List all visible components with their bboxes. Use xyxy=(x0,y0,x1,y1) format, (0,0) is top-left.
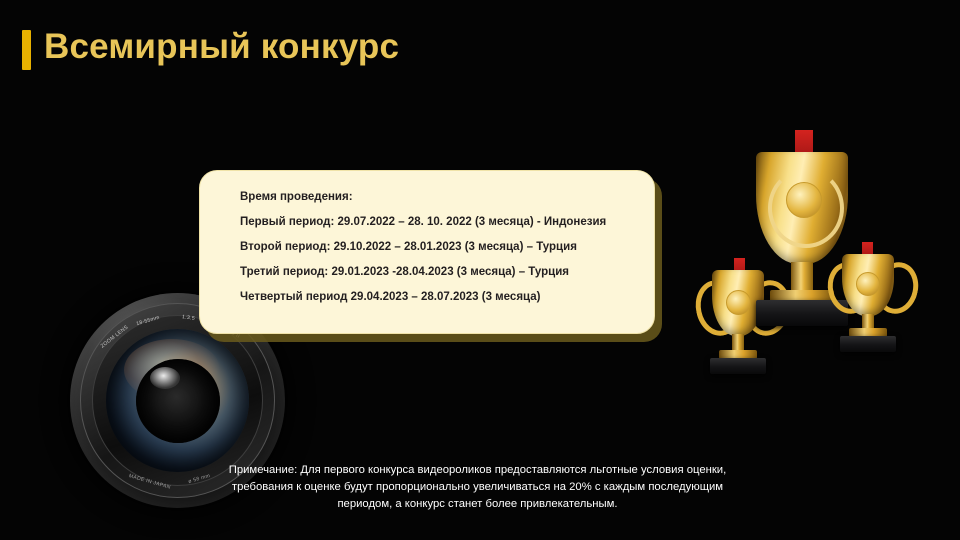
footnote-text: Примечание: Для первого конкурса видеоро… xyxy=(205,462,750,513)
callout-period-1: Первый период: 29.07.2022 – 28. 10. 2022… xyxy=(240,214,634,230)
callout-period-2: Второй период: 29.10.2022 – 28.01.2023 (… xyxy=(240,239,634,255)
callout-heading: Время проведения: xyxy=(240,189,634,205)
trophy-center-stem xyxy=(791,262,813,292)
trophy-right-medal xyxy=(856,272,880,296)
page-title: Всемирный конкурс xyxy=(44,27,399,67)
trophy-left-medal xyxy=(726,290,751,315)
callout-period-4: Четвертый период 29.04.2023 – 28.07.2023… xyxy=(240,289,634,305)
schedule-callout: Время проведения: Первый период: 29.07.2… xyxy=(199,170,655,334)
lens-specular-highlight xyxy=(150,367,180,389)
callout-period-3: Третий период: 29.01.2023 -28.04.2023 (3… xyxy=(240,264,634,280)
trophies-image xyxy=(690,130,940,395)
trophy-center-medal xyxy=(786,182,822,218)
trophy-left-plinth xyxy=(710,358,766,374)
title-accent-bar xyxy=(22,30,31,70)
slide-root: Всемирный конкурс ZOOM LENS 18-55mm 1:3.… xyxy=(0,0,960,540)
trophy-right-plinth xyxy=(840,336,896,352)
